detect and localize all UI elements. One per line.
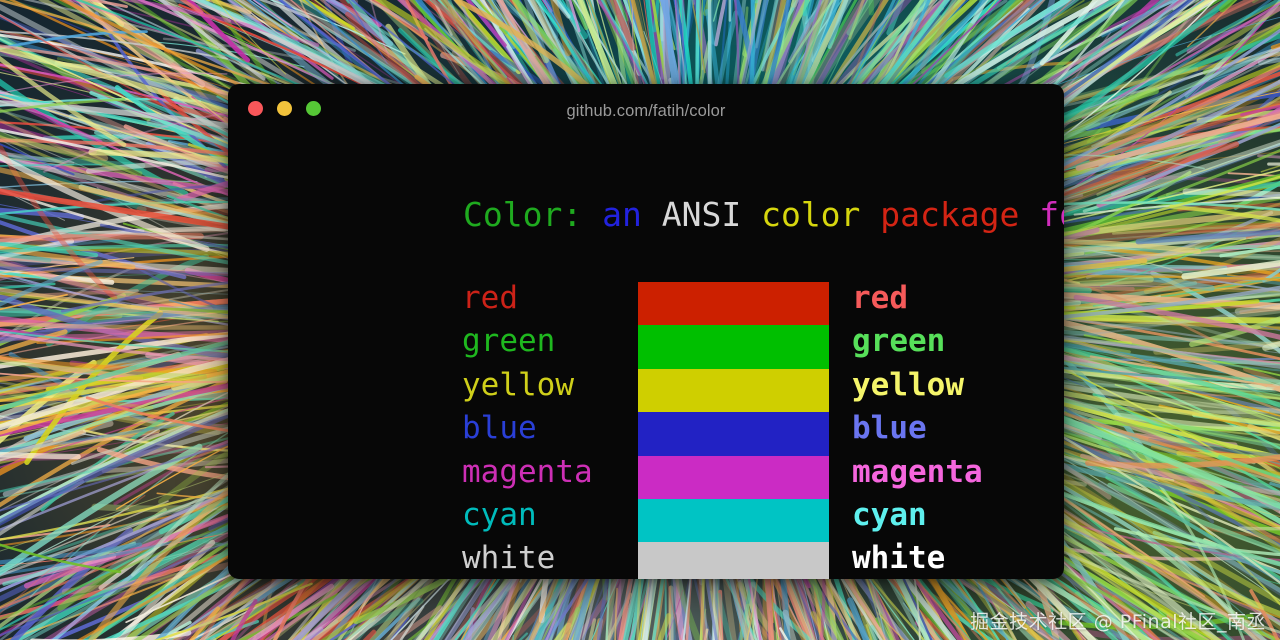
palette-right-label-green: green	[852, 320, 983, 363]
headline-word-9	[1019, 195, 1039, 234]
window-title: github.com/fatih/color	[228, 102, 1064, 121]
palette-left-label-blue: blue	[462, 407, 593, 450]
headline-word-3	[642, 195, 662, 234]
close-button[interactable]	[248, 101, 263, 116]
palette-left-label-white: white	[462, 537, 593, 579]
watermark-text: 掘金技术社区 @ PFinal社区_南丞	[970, 607, 1266, 634]
headline-word-6: color	[761, 195, 860, 234]
headline-word-5	[741, 195, 761, 234]
palette-right-label-yellow: yellow	[852, 364, 983, 407]
palette-left-label-cyan: cyan	[462, 494, 593, 537]
palette-right-label-blue: blue	[852, 407, 983, 450]
palette-swatch-blue	[638, 412, 829, 455]
palette-right-label-magenta: magenta	[852, 451, 983, 494]
palette-left-label-yellow: yellow	[462, 364, 593, 407]
palette-swatch-magenta	[638, 456, 829, 499]
minimize-button[interactable]	[277, 101, 292, 116]
palette-swatch-cyan	[638, 499, 829, 542]
terminal-titlebar: github.com/fatih/color	[228, 84, 1064, 138]
palette-left-label-magenta: magenta	[462, 451, 593, 494]
palette-left-label-red: red	[462, 277, 593, 320]
headline-word-8: package	[880, 195, 1019, 234]
maximize-button[interactable]	[306, 101, 321, 116]
palette-right-label-cyan: cyan	[852, 494, 983, 537]
palette-swatch-white	[638, 542, 829, 579]
palette-swatch-yellow	[638, 369, 829, 412]
palette-right-labels: redgreenyellowbluemagentacyanwhite	[852, 277, 983, 579]
headline-word-10: for	[1039, 195, 1064, 234]
palette-left-labels: redgreenyellowbluemagentacyanwhite	[462, 277, 593, 579]
palette-right-label-red: red	[852, 277, 983, 320]
headline-word-7	[860, 195, 880, 234]
window-controls	[248, 101, 321, 116]
headline-text: Color: an ANSI color package for Go	[463, 198, 1064, 231]
terminal-body: Color: an ANSI color package for Go redg…	[228, 138, 1064, 579]
headline-word-1	[582, 195, 602, 234]
terminal-window: github.com/fatih/color Color: an ANSI co…	[228, 84, 1064, 579]
palette-swatch-red	[638, 282, 829, 325]
palette-left-label-green: green	[462, 320, 593, 363]
palette-swatch-column	[638, 282, 829, 579]
palette-swatch-green	[638, 325, 829, 368]
headline-word-4: ANSI	[662, 195, 741, 234]
headline-word-2: an	[602, 195, 642, 234]
headline-word-0: Color:	[463, 195, 582, 234]
palette-right-label-white: white	[852, 537, 983, 579]
